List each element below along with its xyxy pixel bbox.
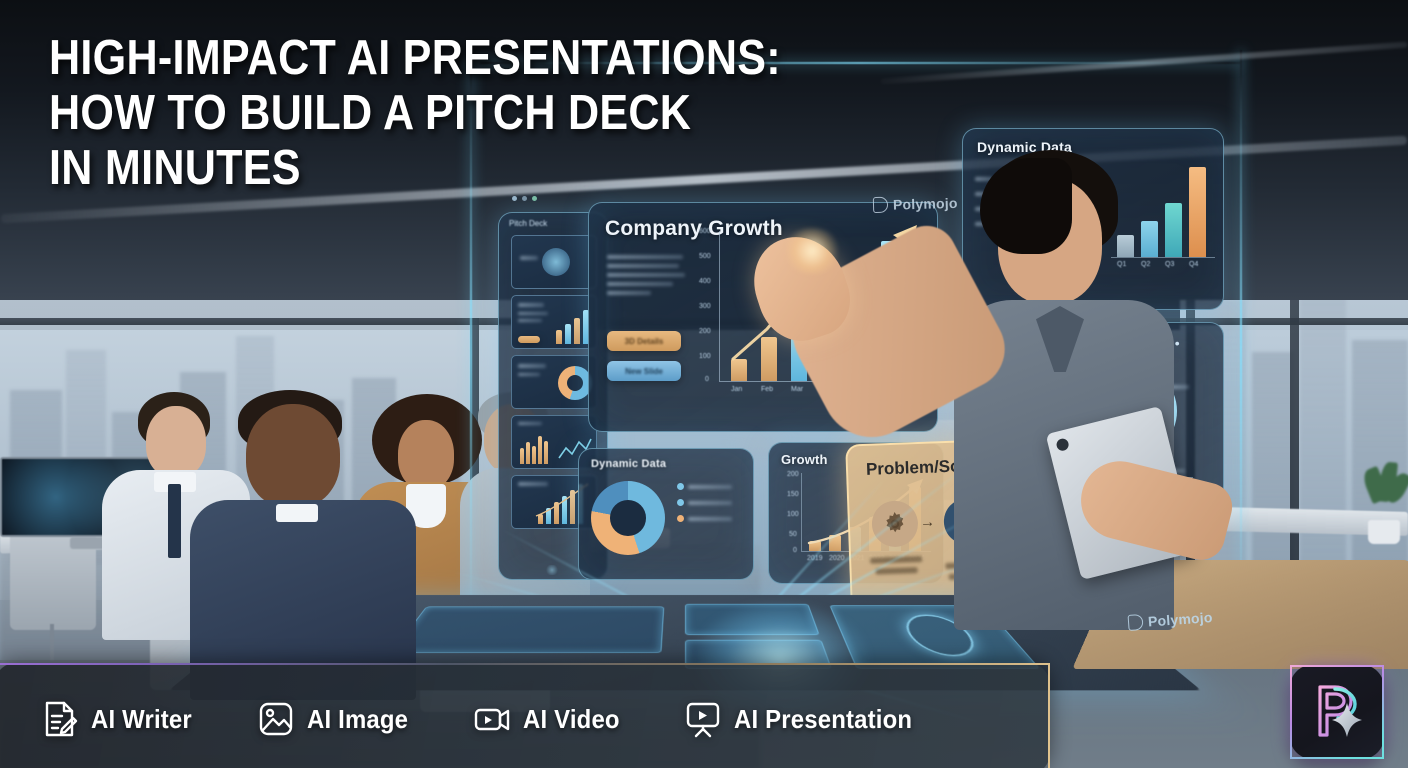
title-line-3: in Minutes <box>49 144 753 192</box>
plant-pot <box>1368 520 1400 544</box>
polymojo-logo-badge[interactable] <box>1290 665 1384 759</box>
chair-leg-1 <box>50 624 54 660</box>
legend <box>677 483 732 522</box>
slide-button-details-label: 3D Details <box>607 331 681 351</box>
list-item[interactable] <box>511 295 597 349</box>
title-line-1: High-Impact AI Presentations: <box>49 34 753 82</box>
panel-title: Growth <box>781 452 828 467</box>
promo-banner: Pitch Deck <box>0 0 1408 768</box>
slide-button-new-slide[interactable]: New Slide <box>607 361 681 381</box>
tablet-camera-icon <box>1055 437 1070 452</box>
feature-label: AI Video <box>523 704 620 735</box>
dynamic-data-panel-bottom[interactable]: Dynamic Data <box>578 448 754 580</box>
video-camera-icon <box>472 699 512 739</box>
polymojo-logo-icon <box>1304 679 1370 745</box>
feature-bar: AI Writer AI Image AI Video <box>0 663 1050 768</box>
image-icon <box>256 699 296 739</box>
y-tick: 600 <box>699 228 711 235</box>
page-title: High-Impact AI Presentations: How to Bui… <box>49 34 849 192</box>
feature-ai-presentation[interactable]: AI Presentation <box>683 699 928 739</box>
x-tick: Mar <box>791 386 803 393</box>
watermark-label: Polymojo <box>893 195 958 213</box>
finger-touch-glow <box>782 228 842 274</box>
presentation-screen-icon <box>683 699 723 739</box>
feature-label: AI Image <box>307 704 408 735</box>
feature-label: AI Writer <box>91 704 192 735</box>
donut-chart <box>591 481 665 555</box>
y-tick: 300 <box>699 303 711 310</box>
gear-icon <box>871 500 919 548</box>
holo-toolbar-dots[interactable] <box>512 196 537 201</box>
feature-ai-video[interactable]: AI Video <box>472 699 628 739</box>
y-tick: 200 <box>699 328 711 335</box>
polymojo-p-icon <box>1128 614 1144 631</box>
arrow-right-icon: → <box>920 513 936 531</box>
bar-chart: Q1 Q2 Q3 Q4 <box>1111 159 1215 277</box>
step-label-1 <box>865 556 928 575</box>
y-tick: 0 <box>705 376 709 383</box>
slide-button-new-slide-label: New Slide <box>607 361 681 381</box>
y-tick: 100 <box>699 353 711 360</box>
title-line-2: How to Build a Pitch Deck <box>49 89 753 137</box>
y-tick: 500 <box>699 253 711 260</box>
feature-ai-image[interactable]: AI Image <box>256 699 417 739</box>
x-tick: Jan <box>731 386 742 393</box>
y-tick: 400 <box>699 278 711 285</box>
feature-label: AI Presentation <box>734 704 912 735</box>
panel-title: Dynamic Data <box>591 458 666 470</box>
document-pencil-icon <box>40 699 80 739</box>
thumbnail-rail-header: Pitch Deck <box>509 219 547 228</box>
slide-button-details[interactable]: 3D Details <box>607 331 681 351</box>
polymojo-p-icon <box>873 197 888 213</box>
list-item[interactable] <box>511 355 597 409</box>
list-item[interactable] <box>511 235 597 289</box>
feature-ai-writer[interactable]: AI Writer <box>40 699 201 739</box>
rail-handle-icon[interactable] <box>545 565 559 575</box>
x-tick: Feb <box>761 386 773 393</box>
watermark-main: Polymojo <box>873 195 958 213</box>
